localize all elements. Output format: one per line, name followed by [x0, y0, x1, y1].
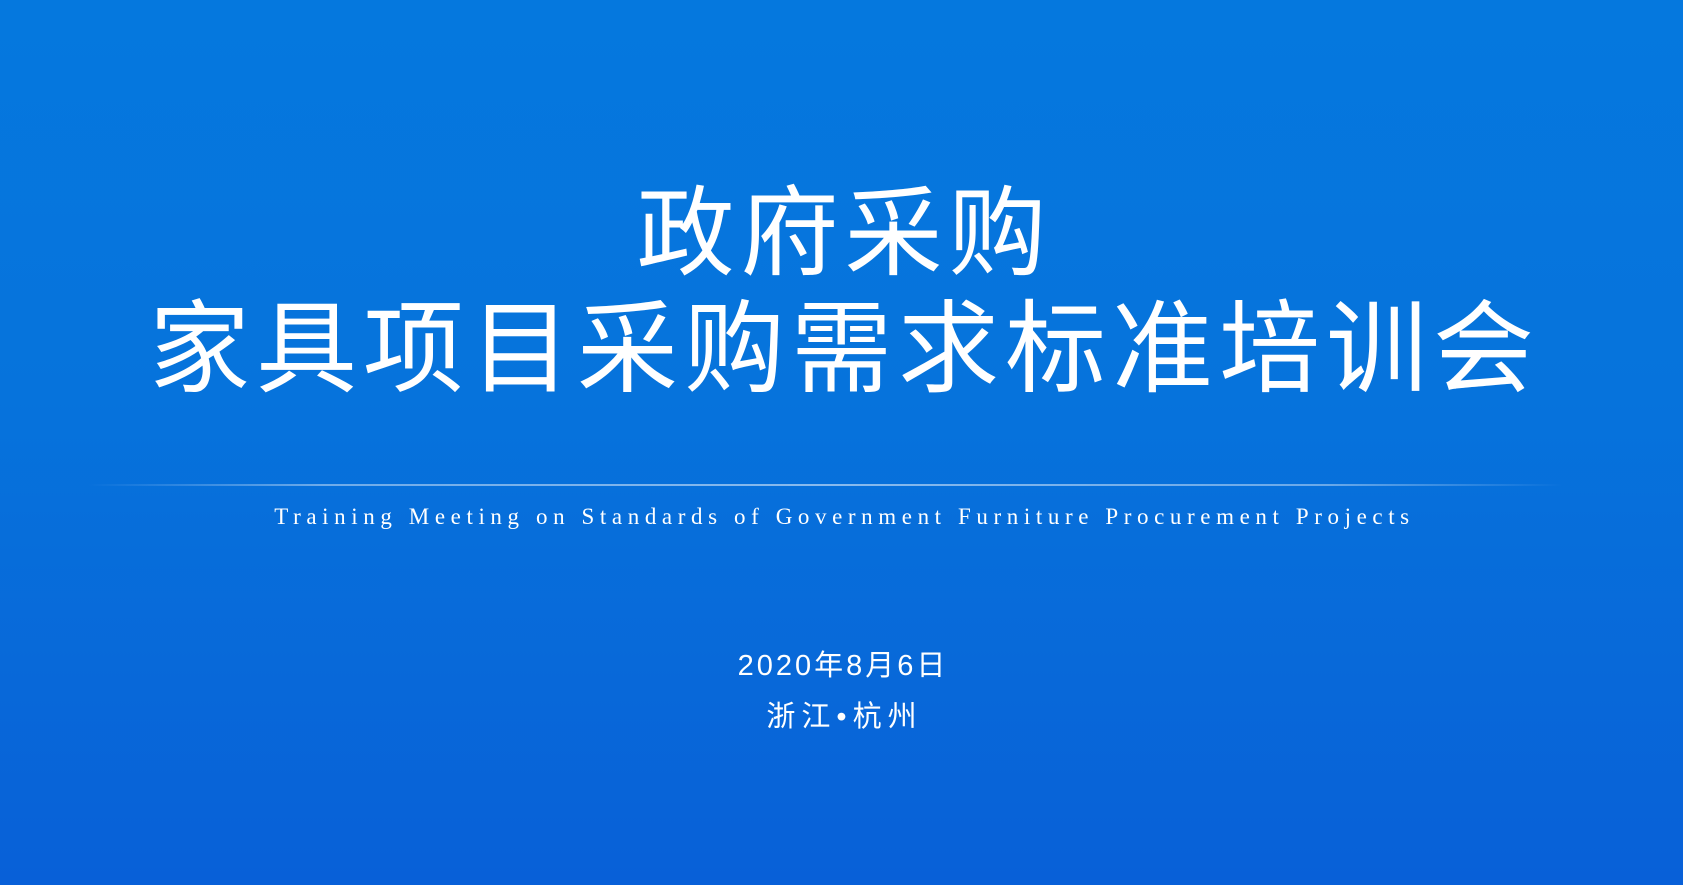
title-line-secondary: 家具项目采购需求标准培训会 — [0, 300, 1683, 401]
title-divider-rule — [88, 484, 1563, 486]
event-date: 2020年8月6日 — [0, 652, 1683, 681]
presentation-title-slide: 政府采购 家具项目采购需求标准培训会 Training Meeting on S… — [0, 0, 1683, 885]
title-block: 政府采购 家具项目采购需求标准培训会 — [0, 186, 1683, 401]
subtitle-english: Training Meeting on Standards of Governm… — [0, 504, 1683, 530]
event-location: 浙江•杭州 — [0, 703, 1683, 732]
footer-block: 2020年8月6日 浙江•杭州 — [0, 652, 1683, 732]
title-line-primary: 政府采购 — [0, 186, 1683, 284]
